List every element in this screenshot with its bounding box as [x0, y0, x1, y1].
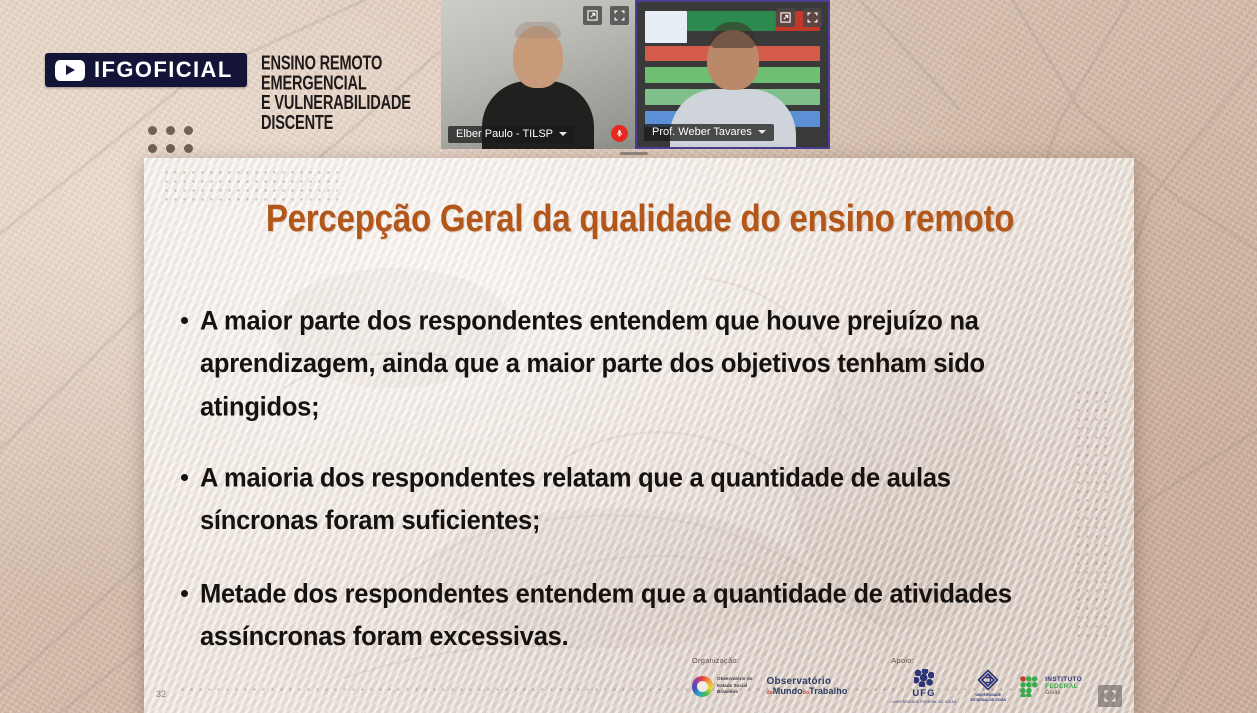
bullet-dot-icon: [181, 590, 188, 597]
list-item: Metade dos respondentes entendem que a q…: [172, 573, 1102, 654]
footer-group-apoio: Apoio: UFG UNIVERSIDADE FEDERAL DE GOIÁS: [891, 656, 1082, 703]
youtube-play-icon: [55, 60, 85, 81]
event-title-line-1: ENSINO REMOTO EMERGENCIAL: [261, 52, 382, 94]
footer-caption-organizacao: Organização:: [692, 656, 847, 665]
slide-title: Percepção Geral da qualidade do ensino r…: [190, 196, 1090, 240]
participant-face: [707, 30, 759, 90]
oesb-line-3: Brasileiro: [717, 689, 738, 694]
fullscreen-icon[interactable]: [610, 6, 629, 25]
video-tile-controls: [776, 8, 822, 27]
footer-group-organizacao: Organização: Observatório do Estado Soci…: [692, 656, 847, 703]
logo-ufg: UFG UNIVERSIDADE FEDERAL DE GOIÁS: [891, 669, 956, 704]
bullet-dot-icon: [181, 474, 188, 481]
video-tile-strip: Elber Paulo - TILSP: [441, 0, 830, 149]
instituto-federal-mark-icon: [1020, 676, 1041, 697]
ufg-mark-icon: [914, 669, 934, 687]
logo-universidade-estadual-de-goias: UNIVERSIDADE ESTADUAL DE GOIÁS: [970, 669, 1006, 703]
event-title: ENSINO REMOTO EMERGENCIAL E VULNERABILID…: [261, 55, 449, 134]
participant-name-tag[interactable]: Elber Paulo - TILSP: [448, 126, 575, 143]
oesb-line-1: Observatório do: [717, 676, 752, 681]
oesb-mark-icon: [692, 676, 713, 697]
channel-name: IFGOFICIAL: [94, 59, 233, 81]
footer-caption-apoio: Apoio:: [891, 656, 1082, 665]
fullscreen-icon[interactable]: [1098, 685, 1122, 707]
list-item: A maioria dos respondentes relatam que a…: [172, 457, 1102, 538]
ufg-label: UFG: [912, 688, 935, 699]
chevron-down-icon[interactable]: [559, 132, 567, 136]
slide-page-number: 32: [156, 689, 166, 699]
if-line-3: Goiás: [1045, 690, 1082, 696]
if-line-1: INSTITUTO: [1045, 676, 1082, 683]
bullet-dot-icon: [181, 317, 188, 324]
participant-face: [513, 26, 563, 88]
list-item: A maior parte dos respondentes entendem …: [172, 300, 1102, 421]
brand-header: IFGOFICIAL ENSINO REMOTO EMERGENCIAL E V…: [45, 53, 461, 115]
chevron-down-icon[interactable]: [758, 130, 766, 134]
youtube-livestream-screen: IFGOFICIAL ENSINO REMOTO EMERGENCIAL E V…: [0, 0, 1257, 713]
participant-name-label: Prof. Weber Tavares: [652, 126, 752, 138]
logo-instituto-federal-goias: INSTITUTO FEDERAL Goiás: [1020, 676, 1082, 697]
channel-badge: IFGOFICIAL: [45, 53, 247, 87]
bullet-text: A maioria dos respondentes relatam que a…: [200, 457, 1060, 542]
video-tile-elber-paulo[interactable]: Elber Paulo - TILSP: [441, 0, 635, 149]
ueg-sub-1: UNIVERSIDADE: [975, 693, 1001, 697]
ueg-mark-icon: [977, 669, 999, 691]
strip-drag-handle[interactable]: [620, 152, 648, 155]
slide-bullet-list: A maior parte dos respondentes entendem …: [172, 300, 1102, 654]
fullscreen-icon[interactable]: [803, 8, 822, 27]
ufg-sublabel: UNIVERSIDADE FEDERAL DE GOIÁS: [891, 700, 956, 704]
omt-trabalho: Trabalho: [809, 686, 847, 696]
omt-mundo: Mundo: [773, 686, 803, 696]
bullet-text: A maior parte dos respondentes entendem …: [200, 300, 1060, 428]
bullet-text: Metade dos respondentes entendem que a q…: [200, 573, 1060, 658]
oesb-line-2: Estado Social: [717, 683, 747, 688]
popout-icon[interactable]: [776, 8, 795, 27]
video-tile-weber-tavares[interactable]: Prof. Weber Tavares: [635, 0, 830, 149]
presentation-slide[interactable]: Percepção Geral da qualidade do ensino r…: [144, 158, 1134, 713]
microphone-muted-icon: [611, 125, 628, 142]
if-line-2: FEDERAL: [1045, 683, 1082, 690]
video-tile-controls: [583, 6, 629, 25]
logo-observatorio-estado-social-brasileiro: Observatório do Estado Social Brasileiro: [692, 676, 752, 697]
ueg-sub-2: ESTADUAL DE GOIÁS: [970, 698, 1006, 702]
participant-name-label: Elber Paulo - TILSP: [456, 128, 553, 140]
event-title-line-2: E VULNERABILIDADE DISCENTE: [261, 94, 449, 133]
popout-icon[interactable]: [583, 6, 602, 25]
participant-name-tag[interactable]: Prof. Weber Tavares: [644, 124, 774, 141]
slide-footer: Organização: Observatório do Estado Soci…: [692, 656, 1112, 703]
logo-observatorio-mundo-do-trabalho: Observatório doMundodoTrabalho: [766, 677, 847, 696]
